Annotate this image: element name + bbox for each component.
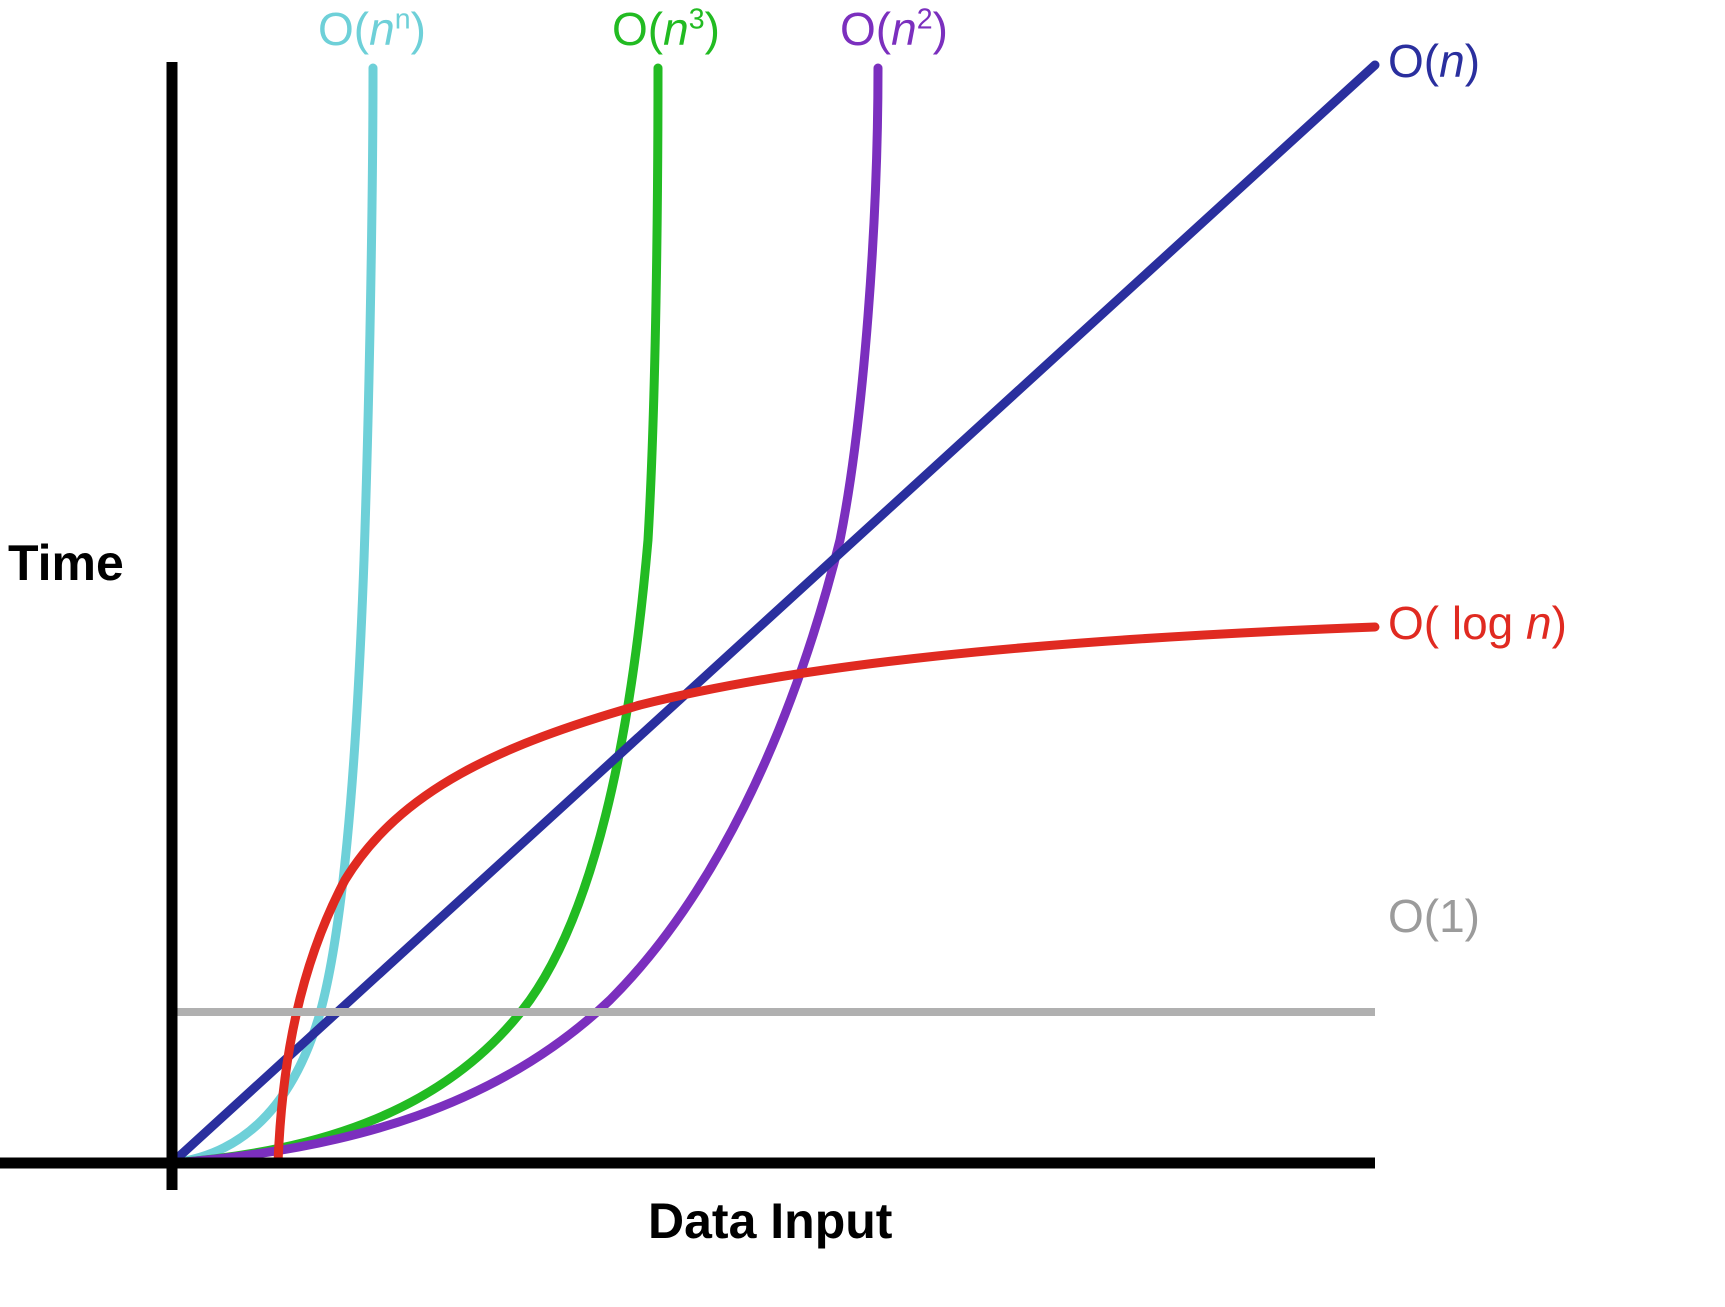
complexity-plot: [0, 0, 1725, 1307]
series-label-n-squared: O(n2): [840, 6, 948, 52]
series-label-linear-n: O(n): [1388, 38, 1480, 84]
chart-canvas: O(nn) O(n3) O(n2) O(n) O( log n) O(1) Ti…: [0, 0, 1725, 1307]
series-label-constant: O(1): [1388, 893, 1480, 939]
curve-n-cubed: [172, 68, 658, 1163]
x-axis-title: Data Input: [648, 1196, 892, 1246]
series-label-n-cubed: O(n3): [612, 6, 720, 52]
curve-n-to-n: [172, 68, 373, 1163]
curve-linear-n: [172, 65, 1375, 1163]
y-axis-title: Time: [8, 538, 124, 588]
series-label-log-n: O( log n): [1388, 600, 1567, 646]
series-label-n-to-n: O(nn): [318, 6, 426, 52]
